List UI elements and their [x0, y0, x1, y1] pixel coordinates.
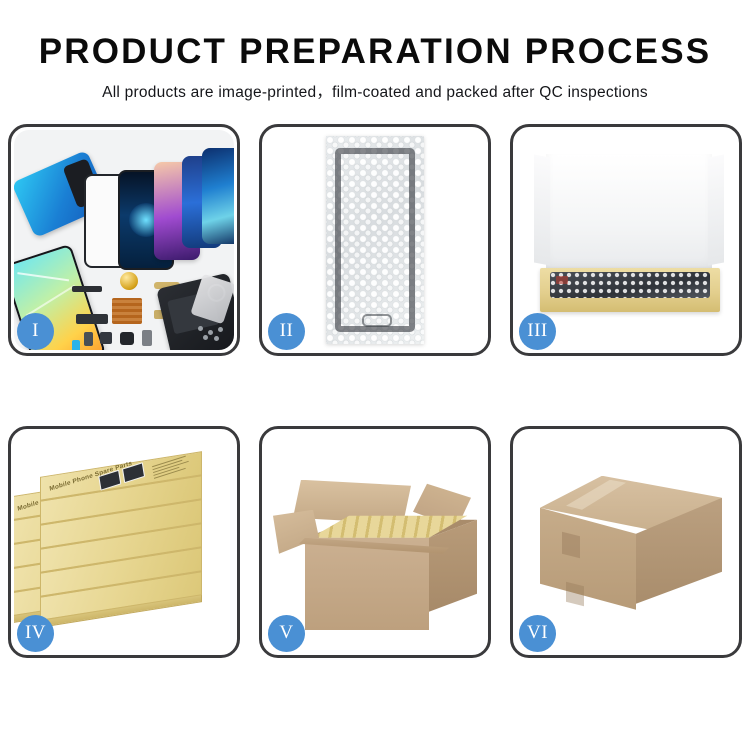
box-stack-right: Mobile Phone Spare Parts — [40, 466, 226, 610]
bubble-wrap-icon — [326, 136, 424, 344]
speaker-part-icon — [120, 272, 138, 290]
step-badge-2: II — [268, 313, 305, 350]
small-blue-part-icon — [72, 340, 80, 350]
flex-cable-part-icon — [72, 286, 102, 292]
camera-part-icon — [100, 332, 112, 344]
step-badge-3: III — [519, 313, 556, 350]
carton-bottom-notch — [566, 582, 584, 606]
step-card-6: VI — [510, 426, 742, 658]
carton-front-face — [305, 538, 429, 630]
spare-parts-box — [40, 584, 226, 610]
step-card-1: I — [8, 124, 240, 356]
module-part-icon — [120, 332, 134, 345]
page-title: PRODUCT PREPARATION PROCESS — [0, 34, 750, 71]
step-badge-4: IV — [17, 615, 54, 652]
step-card-3: III — [510, 124, 742, 356]
step-badge-6: VI — [519, 615, 556, 652]
screws-icon — [198, 326, 228, 340]
carton-handle-notch — [562, 532, 580, 558]
sim-tray-part-icon — [142, 330, 152, 346]
button-part-icon — [84, 332, 93, 346]
step-card-2: II — [259, 124, 491, 356]
product-preparation-process-page: PRODUCT PREPARATION PROCESS All products… — [0, 0, 750, 750]
chip-part-icon — [112, 298, 142, 324]
page-header: PRODUCT PREPARATION PROCESS All products… — [0, 34, 750, 102]
connector-part-icon — [76, 314, 108, 324]
step-card-5: V — [259, 426, 491, 658]
process-steps-grid: I II III — [12, 124, 738, 658]
step-badge-5: V — [268, 615, 305, 652]
teal-phone-icon — [202, 148, 234, 244]
foam-padding-icon — [546, 154, 712, 272]
step-badge-1: I — [17, 313, 54, 350]
wrapped-screen-icon — [550, 272, 710, 298]
page-subtitle: All products are image-printed，film-coat… — [0, 80, 750, 102]
step-card-4: Mobile Phone Spare Parts — [8, 426, 240, 658]
